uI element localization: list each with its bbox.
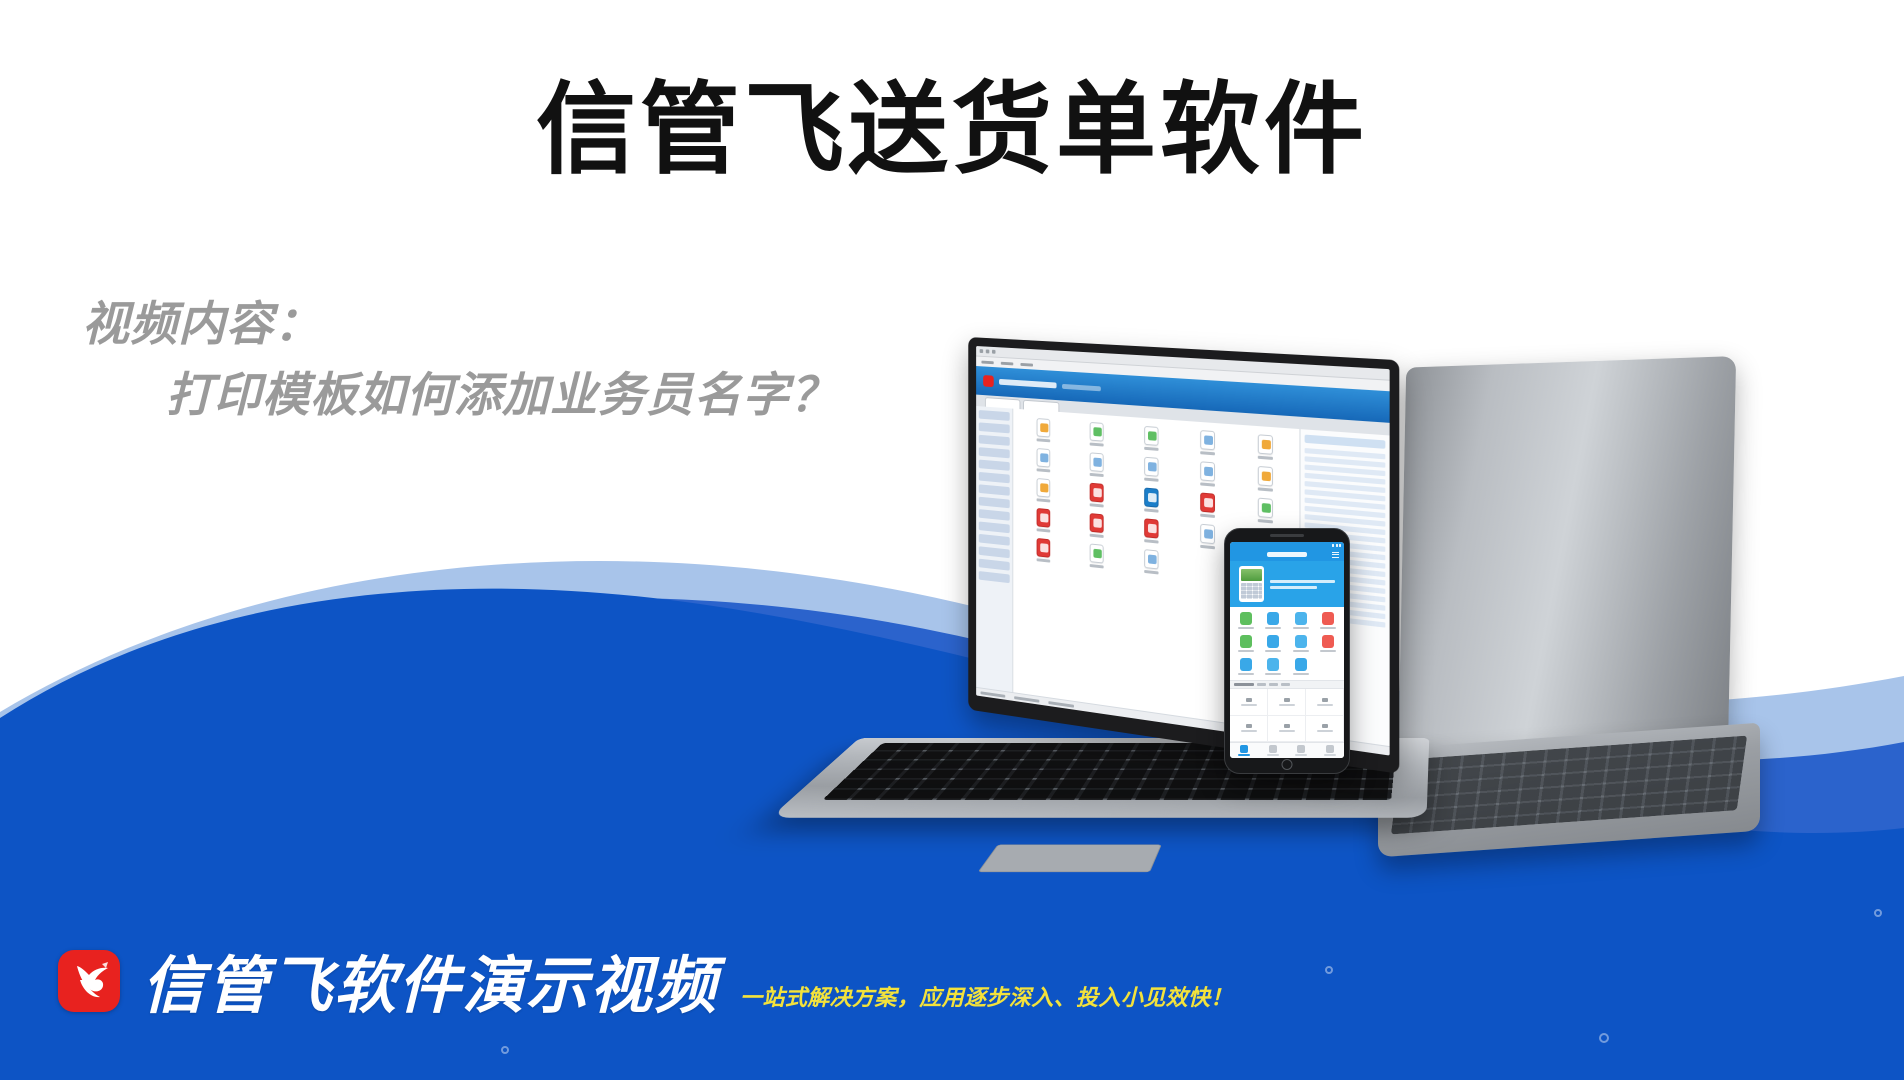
right-panel-header bbox=[1305, 435, 1386, 449]
phone-feature-item[interactable] bbox=[1288, 658, 1314, 675]
app-grid-icon bbox=[1019, 506, 1068, 534]
sidebar-item bbox=[979, 534, 1010, 546]
app-grid-icon bbox=[1071, 542, 1121, 571]
app-grid-icon bbox=[1071, 481, 1121, 509]
phone-feature-item[interactable] bbox=[1261, 658, 1287, 675]
banner-caption bbox=[1270, 580, 1335, 589]
sidebar-item bbox=[979, 435, 1010, 446]
video-content-topic: 打印模板如何添加业务员名字？ bbox=[82, 359, 1082, 430]
app-grid-icon bbox=[1019, 476, 1068, 504]
phone-tab-profile[interactable] bbox=[1316, 743, 1345, 758]
phone-stat-cell bbox=[1230, 716, 1268, 743]
app-sidebar bbox=[976, 406, 1013, 692]
phone-stat-cell bbox=[1306, 716, 1344, 743]
footer-brand-bar: 信管飞软件演示视频 一站式解决方案，应用逐步深入、投入小见效快！ bbox=[58, 950, 1233, 1018]
phone-feature-item[interactable] bbox=[1261, 635, 1287, 652]
signal-icon bbox=[1332, 544, 1334, 547]
wifi-icon bbox=[1336, 544, 1338, 547]
phone-screen-content bbox=[1230, 542, 1344, 758]
app-grid-icon bbox=[1181, 491, 1234, 520]
phone-stat-cell bbox=[1230, 689, 1268, 716]
phone-feature-item[interactable] bbox=[1316, 612, 1342, 629]
presentation-slide: 信管飞送货单软件 视频内容： 打印模板如何添加业务员名字？ 信管飞软件演示视频 … bbox=[0, 0, 1904, 1080]
battery-icon bbox=[1339, 544, 1341, 547]
smartphone-device bbox=[1224, 528, 1350, 774]
phone-stats-grid bbox=[1230, 689, 1344, 742]
decor-dot bbox=[1325, 966, 1333, 974]
sidebar-item bbox=[979, 472, 1010, 483]
phone-tab-reports[interactable] bbox=[1287, 743, 1316, 758]
phone-hero-banner bbox=[1230, 561, 1344, 607]
filter-option[interactable] bbox=[1281, 683, 1290, 686]
phone-app-navbar bbox=[1230, 548, 1344, 561]
phone-speaker-icon bbox=[1270, 534, 1304, 537]
status-text bbox=[1048, 701, 1074, 708]
phone-tab-documents[interactable] bbox=[1259, 743, 1288, 758]
phone-tab-bar bbox=[1230, 742, 1344, 758]
sidebar-item bbox=[979, 509, 1010, 521]
phone-feature-item[interactable] bbox=[1233, 612, 1259, 629]
app-grid-icon bbox=[1239, 496, 1294, 526]
phone-tab-home[interactable] bbox=[1230, 743, 1259, 758]
brand-name-text: 信管飞软件演示视频 bbox=[142, 956, 718, 1018]
phone-feature-grid bbox=[1230, 607, 1344, 680]
filter-option[interactable] bbox=[1257, 683, 1266, 686]
sidebar-item bbox=[979, 571, 1010, 583]
sidebar-item bbox=[979, 559, 1010, 571]
phone-illustration-icon bbox=[1239, 566, 1264, 602]
sidebar-item bbox=[979, 484, 1010, 495]
app-grid-icon bbox=[1071, 451, 1121, 479]
phone-stat-cell bbox=[1268, 716, 1306, 743]
phone-feature-item[interactable] bbox=[1261, 612, 1287, 629]
status-text bbox=[1014, 696, 1039, 703]
phone-feature-item[interactable] bbox=[1288, 635, 1314, 652]
phone-section-header bbox=[1230, 680, 1344, 689]
sidebar-item bbox=[979, 447, 1010, 458]
app-grid-icon bbox=[1239, 433, 1294, 462]
sidebar-item bbox=[979, 546, 1010, 558]
phone-feature-item[interactable] bbox=[1316, 635, 1342, 652]
app-grid-icon bbox=[1019, 536, 1068, 564]
app-grid-icon bbox=[1239, 464, 1294, 493]
app-grid-icon bbox=[1019, 447, 1068, 474]
app-grid-icon bbox=[1126, 486, 1178, 515]
page-title: 信管飞送货单软件 bbox=[0, 72, 1904, 190]
status-text bbox=[981, 691, 1006, 697]
decor-dot bbox=[1599, 1033, 1609, 1043]
phone-feature-item[interactable] bbox=[1233, 658, 1259, 675]
sidebar-item bbox=[979, 521, 1010, 533]
sidebar-item bbox=[979, 460, 1010, 471]
phone-app-title bbox=[1267, 552, 1307, 557]
filter-option[interactable] bbox=[1269, 683, 1278, 686]
brand-tagline-text: 一站式解决方案，应用逐步深入、投入小见效快！ bbox=[740, 987, 1233, 1009]
device-mockup-cluster bbox=[880, 380, 1890, 960]
phone-feature-item[interactable] bbox=[1288, 612, 1314, 629]
app-grid-icon bbox=[1181, 460, 1234, 489]
sidebar-item bbox=[979, 497, 1010, 509]
video-content-label: 视频内容： bbox=[82, 288, 1082, 359]
app-grid-icon bbox=[1181, 429, 1234, 457]
app-grid-icon bbox=[1126, 547, 1178, 576]
video-content-block: 视频内容： 打印模板如何添加业务员名字？ bbox=[82, 288, 1082, 431]
hamburger-menu-icon[interactable] bbox=[1332, 552, 1339, 558]
front-laptop-trackpad bbox=[978, 845, 1162, 873]
phone-stat-cell bbox=[1268, 689, 1306, 716]
phone-feature-item[interactable] bbox=[1233, 635, 1259, 652]
phone-home-button[interactable] bbox=[1282, 759, 1293, 770]
xinguanfei-logo-icon bbox=[58, 950, 120, 1012]
decor-dot bbox=[501, 1046, 509, 1054]
phone-stat-cell bbox=[1306, 689, 1344, 716]
app-grid-icon bbox=[1126, 425, 1178, 453]
app-grid-icon bbox=[1126, 455, 1178, 483]
rear-laptop-lid bbox=[1398, 356, 1736, 768]
app-grid-icon bbox=[1126, 517, 1178, 546]
app-grid-icon bbox=[1071, 511, 1121, 540]
section-title bbox=[1234, 683, 1254, 686]
